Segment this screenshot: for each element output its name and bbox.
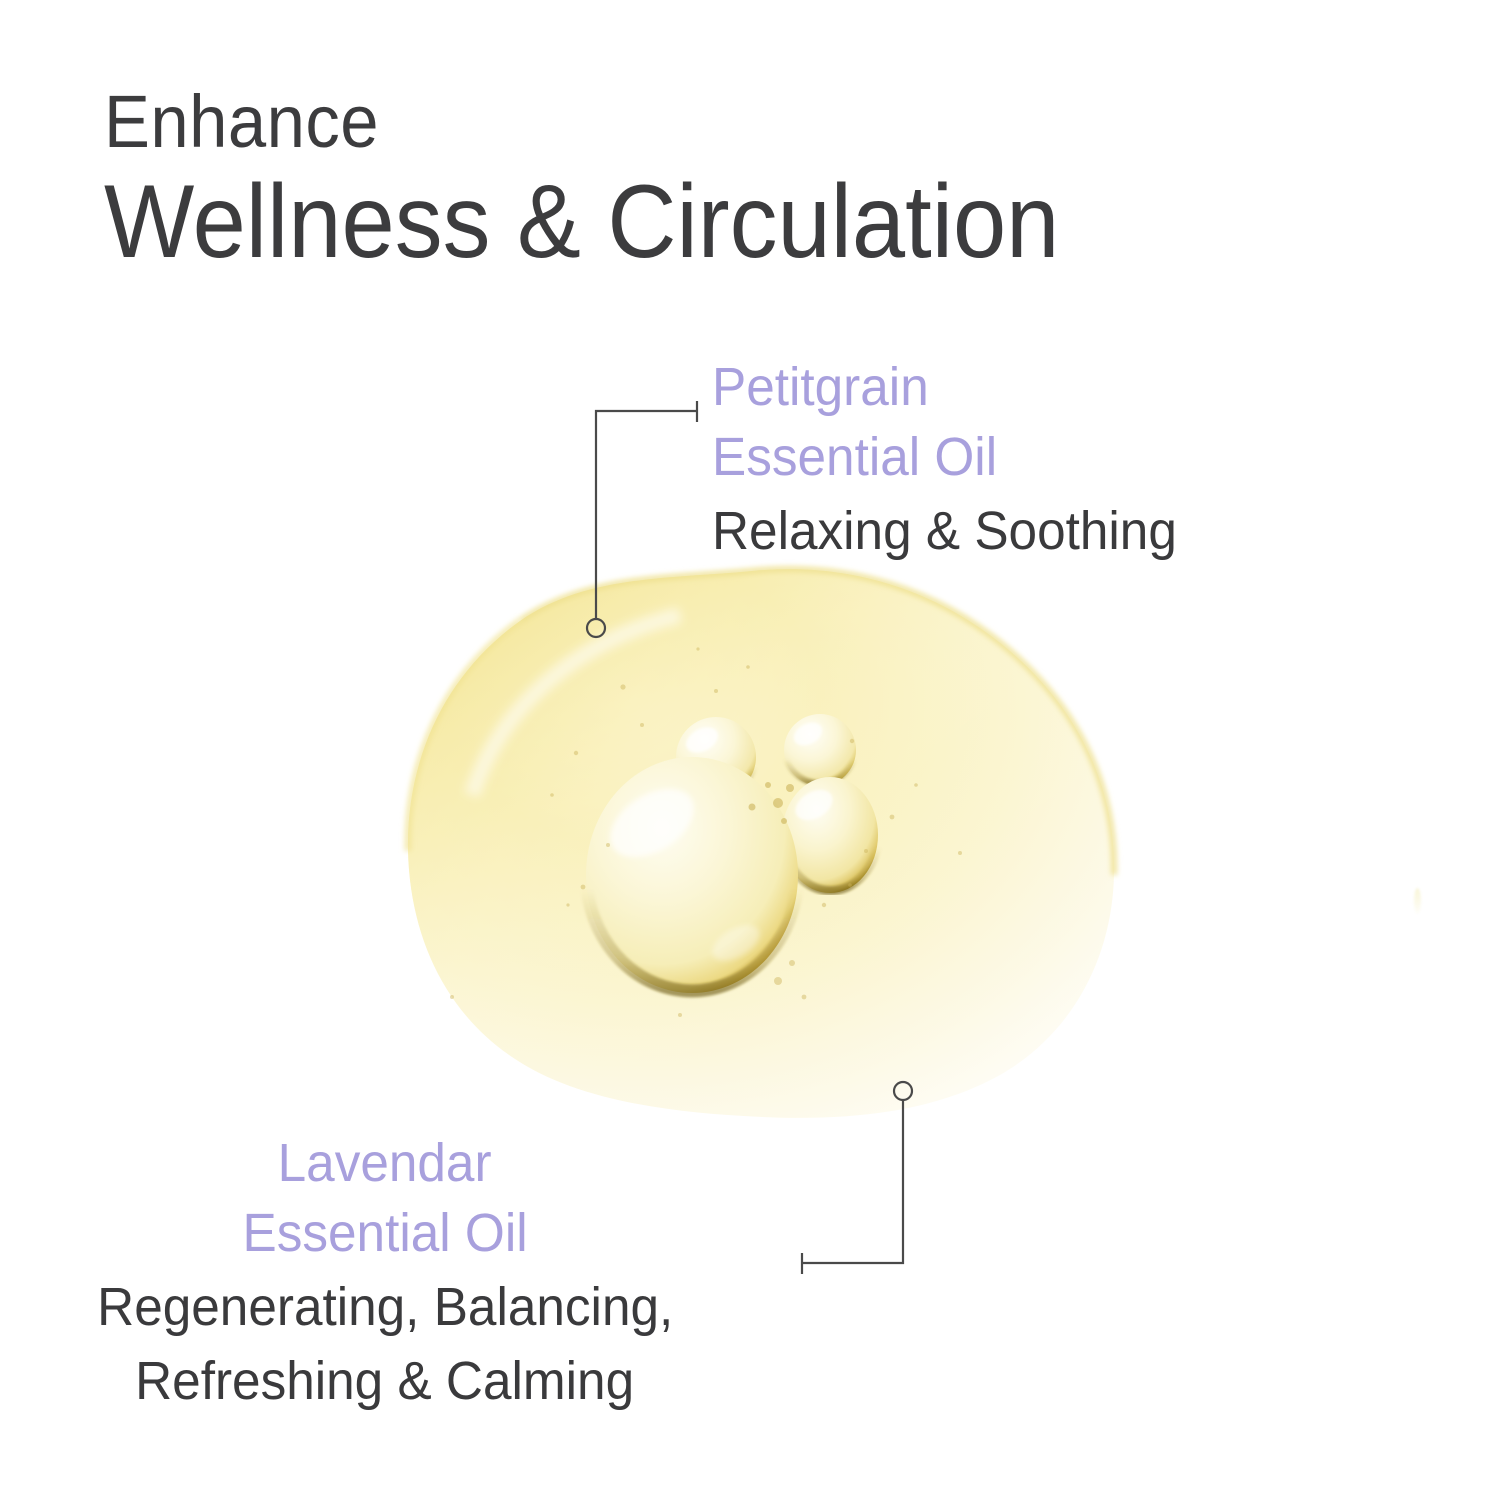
circle-marker-icon <box>587 619 605 637</box>
heading-eyebrow: Enhance <box>104 82 1276 162</box>
oil-droplet-swatch-image <box>380 545 1140 1125</box>
ingredient-name-line1-text: Lavendar <box>278 1128 492 1198</box>
ingredient-benefit-line1: Regenerating, Balancing, <box>0 1272 770 1342</box>
ingredient-benefit-line1-text: Regenerating, Balancing, <box>97 1272 673 1342</box>
bubble-large-main <box>586 757 798 993</box>
stray-oil-speck <box>1414 888 1421 914</box>
ingredient-benefit-line2: Refreshing & Calming <box>0 1346 770 1416</box>
callout-lavendar: Lavendar Essential Oil Regenerating, Bal… <box>0 1128 770 1416</box>
ingredient-benefit-line2-text: Refreshing & Calming <box>136 1346 635 1416</box>
leader-line-petitgrain <box>580 398 720 648</box>
leader-line-lavendar <box>788 1078 928 1288</box>
ingredient-name-line2-text: Essential Oil <box>242 1198 527 1268</box>
ingredient-name-line2: Essential Oil <box>0 1198 770 1268</box>
page-title: Enhance Wellness & Circulation <box>104 82 1364 278</box>
bubble-small-right <box>784 714 856 786</box>
callout-petitgrain: Petitgrain Essential Oil Relaxing & Soot… <box>712 352 1412 566</box>
ingredient-benefit-line1: Relaxing & Soothing <box>712 496 1377 566</box>
circle-marker-icon <box>894 1082 912 1100</box>
ingredient-name-line1: Petitgrain <box>712 352 1377 422</box>
ingredient-name-line2: Essential Oil <box>712 422 1377 492</box>
infographic-canvas: Enhance Wellness & Circulation <box>0 0 1500 1500</box>
ingredient-name-line1: Lavendar <box>0 1128 770 1198</box>
heading-main: Wellness & Circulation <box>104 166 1263 278</box>
